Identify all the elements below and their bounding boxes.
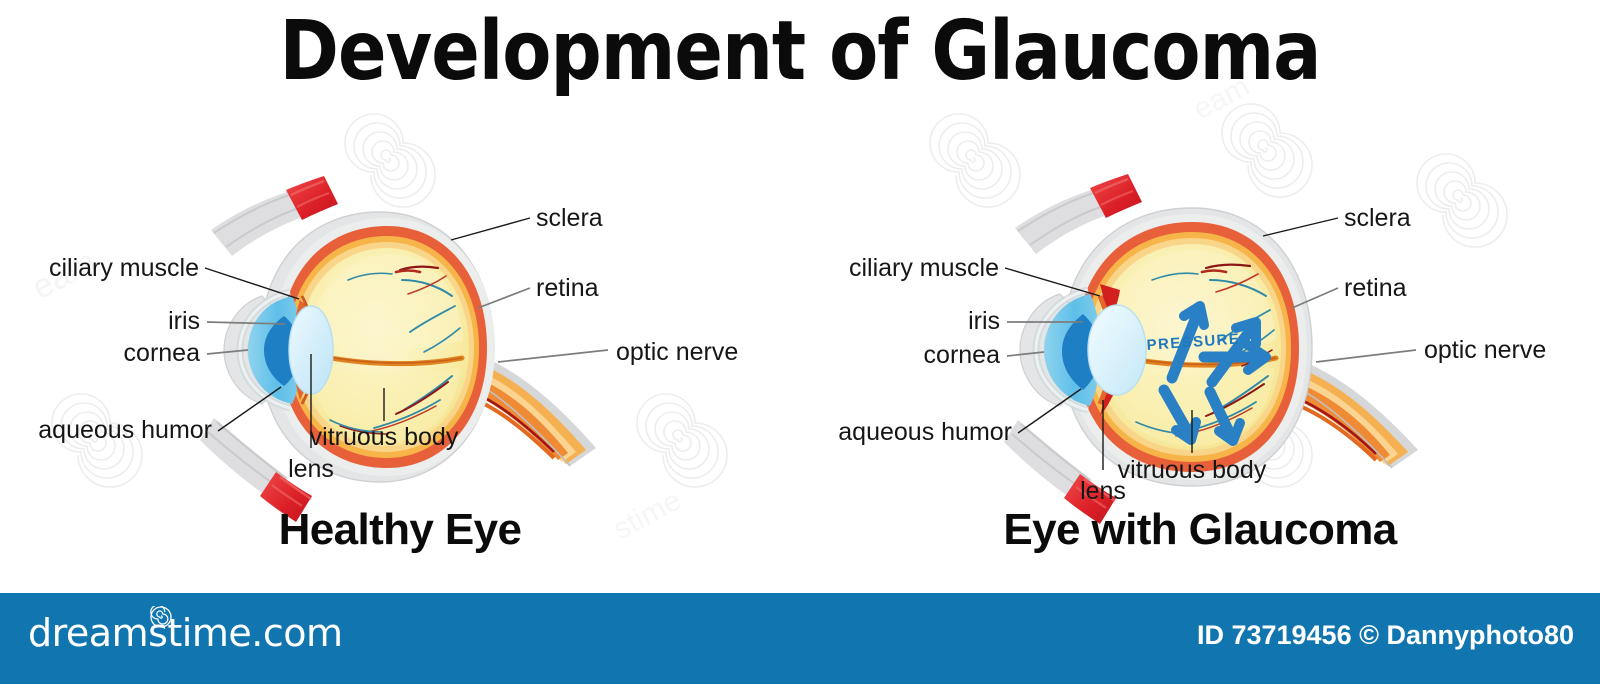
poster-canvas: eam stime eam ime Development of Glaucom…	[0, 0, 1600, 684]
anterior-segment	[240, 292, 333, 408]
panel-healthy-eye: sclera retina optic nerve ciliary muscle…	[0, 100, 800, 580]
label-ciliary-muscle: ciliary muscle	[849, 254, 999, 282]
footer-bar: dreamstime.com ID 73719456 © Dannyphoto8…	[0, 593, 1600, 684]
image-credit: ID 73719456 © Dannyphoto80	[1197, 619, 1574, 651]
caption-glaucoma-eye: Eye with Glaucoma	[800, 504, 1600, 556]
label-vitruous-body: vitruous body	[1118, 456, 1267, 484]
label-retina: retina	[536, 274, 599, 302]
label-iris: iris	[168, 307, 200, 335]
dreamstime-spiral-icon	[150, 606, 172, 628]
page-title: Development of Glaucoma	[24, 6, 1576, 98]
label-sclera: sclera	[1344, 204, 1411, 232]
label-vitruous-body: vitruous body	[310, 423, 459, 451]
label-optic-nerve: optic nerve	[1424, 336, 1546, 364]
lens-region	[1088, 305, 1146, 395]
label-lens: lens	[288, 455, 334, 483]
label-aqueous-humor: aqueous humor	[38, 416, 212, 444]
dreamstime-logo[interactable]: dreamstime.com	[28, 611, 342, 655]
label-aqueous-humor: aqueous humor	[838, 418, 1012, 446]
label-iris: iris	[968, 307, 1000, 335]
label-cornea: cornea	[924, 341, 1001, 369]
panel-glaucoma-eye: PRESSURE sclera retina optic nerve cilia…	[800, 100, 1600, 580]
label-optic-nerve: optic nerve	[616, 338, 738, 366]
label-retina: retina	[1344, 274, 1407, 302]
label-cornea: cornea	[124, 339, 201, 367]
label-ciliary-muscle: ciliary muscle	[49, 254, 199, 282]
caption-healthy-eye: Healthy Eye	[0, 504, 800, 556]
label-sclera: sclera	[536, 204, 603, 232]
